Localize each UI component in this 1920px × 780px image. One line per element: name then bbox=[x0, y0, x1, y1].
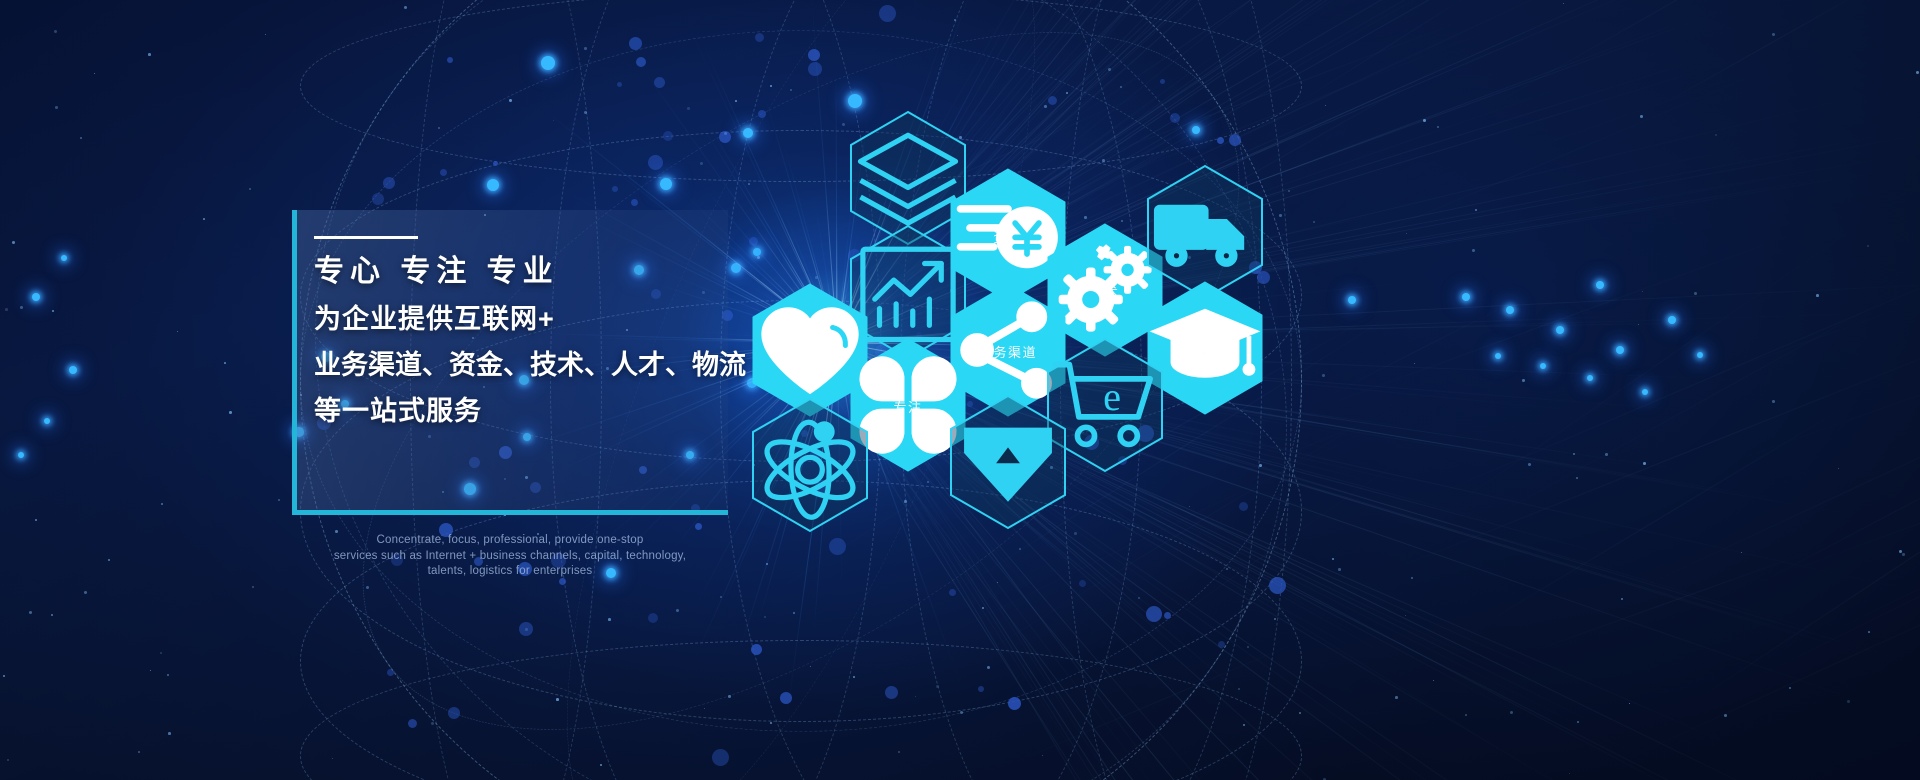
hexagon-layers[interactable] bbox=[851, 112, 965, 244]
hexagon-heart[interactable]: 专心 bbox=[753, 284, 867, 416]
svg-text:e: e bbox=[1103, 374, 1121, 419]
hexagon-logistics[interactable]: 物流 bbox=[1148, 166, 1262, 298]
hexagon-focus[interactable]: 专注 bbox=[851, 339, 965, 471]
hexagon-atom[interactable] bbox=[753, 399, 867, 531]
hexagon-cluster: 资金技术物流专心业务渠道人才专注e专业 bbox=[0, 0, 1920, 780]
hexagon-pro[interactable]: 专业 bbox=[951, 396, 1065, 528]
banner-stage: 专心 专注 专业 为企业提供互联网+ 业务渠道、资金、技术、人才、物流 等一站式… bbox=[0, 0, 1920, 780]
hexagon-talents[interactable]: 人才 bbox=[1148, 282, 1262, 414]
